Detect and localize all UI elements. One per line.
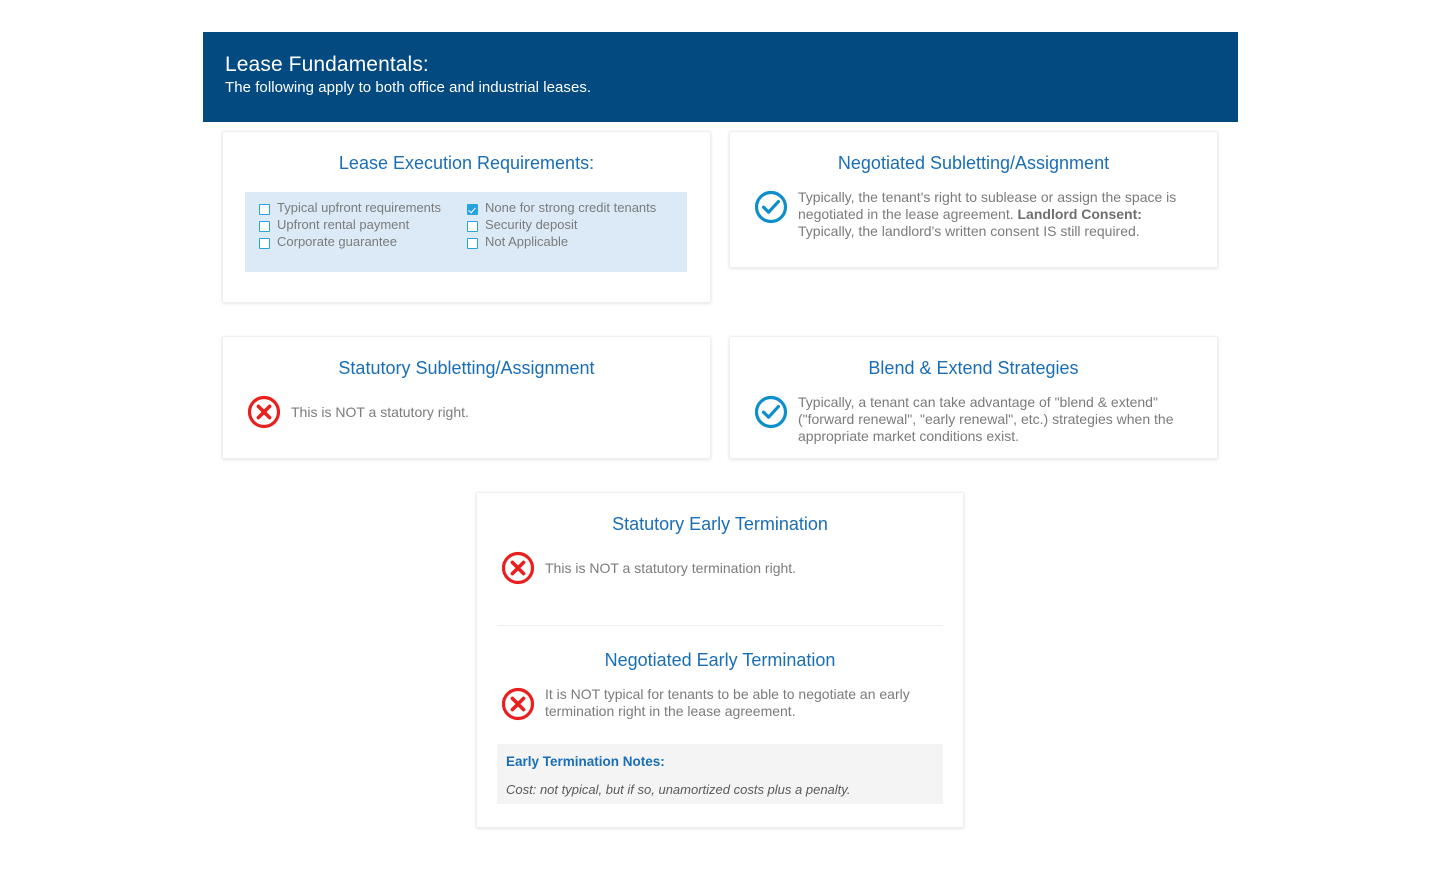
- checkbox-unchecked-icon[interactable]: [259, 221, 270, 232]
- checkbox-unchecked-icon[interactable]: [467, 238, 478, 249]
- page-title: Lease Fundamentals:: [225, 52, 1238, 78]
- negotiated-subletting-text: Typically, the tenant's right to subleas…: [798, 188, 1195, 240]
- checkbox-unchecked-icon[interactable]: [259, 204, 270, 215]
- card-title-blend-extend: Blend & Extend Strategies: [730, 357, 1217, 379]
- content-row: Typically, the tenant's right to subleas…: [730, 188, 1217, 240]
- card-statutory-subletting: Statutory Subletting/Assignment This is …: [222, 336, 711, 459]
- text-part-2: Typically, the landlord's written consen…: [798, 223, 1140, 239]
- check-circle-icon: [752, 188, 790, 226]
- checkbox-item[interactable]: Security deposit: [467, 217, 675, 233]
- checkbox-column-right: None for strong credit tenants Security …: [467, 200, 675, 272]
- checkbox-item[interactable]: Upfront rental payment: [259, 217, 467, 233]
- card-title-negotiated-subletting: Negotiated Subletting/Assignment: [730, 152, 1217, 174]
- landlord-consent-label: Landlord Consent:: [1018, 206, 1142, 222]
- checkbox-label: Not Applicable: [485, 234, 568, 250]
- negotiated-early-termination-text: It is NOT typical for tenants to be able…: [545, 685, 941, 720]
- card-title-statutory-early-termination: Statutory Early Termination: [477, 513, 963, 535]
- checkbox-label: Typical upfront requirements: [277, 200, 441, 216]
- checkbox-item[interactable]: Not Applicable: [467, 234, 675, 250]
- checkbox-label: Security deposit: [485, 217, 578, 233]
- card-title-lease-execution: Lease Execution Requirements:: [223, 152, 710, 174]
- checkbox-label: Upfront rental payment: [277, 217, 409, 233]
- checkbox-item[interactable]: None for strong credit tenants: [467, 200, 675, 216]
- card-title-statutory-subletting: Statutory Subletting/Assignment: [223, 357, 710, 379]
- header-banner: Lease Fundamentals: The following apply …: [203, 32, 1238, 122]
- content-row: This is NOT a statutory right.: [223, 393, 710, 431]
- content-row: This is NOT a statutory termination righ…: [477, 549, 963, 587]
- x-circle-icon: [245, 393, 283, 431]
- content-row: It is NOT typical for tenants to be able…: [477, 685, 963, 723]
- page-subtitle: The following apply to both office and i…: [225, 78, 1238, 98]
- early-termination-notes-box: Early Termination Notes: Cost: not typic…: [497, 744, 943, 804]
- statutory-subletting-text: This is NOT a statutory right.: [291, 404, 469, 421]
- check-circle-icon: [752, 393, 790, 431]
- checkbox-label: Corporate guarantee: [277, 234, 397, 250]
- checkbox-item[interactable]: Typical upfront requirements: [259, 200, 467, 216]
- page-root: Lease Fundamentals: The following apply …: [0, 0, 1440, 869]
- checkbox-panel: Typical upfront requirements Upfront ren…: [245, 192, 687, 272]
- notes-body: Cost: not typical, but if so, unamortize…: [506, 781, 943, 798]
- checkbox-item[interactable]: Corporate guarantee: [259, 234, 467, 250]
- checkbox-unchecked-icon[interactable]: [467, 221, 478, 232]
- notes-title: Early Termination Notes:: [506, 753, 943, 771]
- card-title-negotiated-early-termination: Negotiated Early Termination: [477, 649, 963, 671]
- section-divider: [497, 625, 943, 626]
- x-circle-icon: [499, 685, 537, 723]
- checkbox-unchecked-icon[interactable]: [259, 238, 270, 249]
- card-blend-extend-strategies: Blend & Extend Strategies Typically, a t…: [729, 336, 1218, 459]
- x-circle-icon: [499, 549, 537, 587]
- checkbox-column-left: Typical upfront requirements Upfront ren…: [259, 200, 467, 272]
- content-row: Typically, a tenant can take advantage o…: [730, 393, 1217, 445]
- statutory-early-termination-text: This is NOT a statutory termination righ…: [545, 560, 796, 577]
- checkbox-checked-icon[interactable]: [467, 204, 478, 215]
- checkbox-label: None for strong credit tenants: [485, 200, 656, 216]
- blend-extend-text: Typically, a tenant can take advantage o…: [798, 393, 1195, 445]
- card-negotiated-subletting: Negotiated Subletting/Assignment Typical…: [729, 131, 1218, 268]
